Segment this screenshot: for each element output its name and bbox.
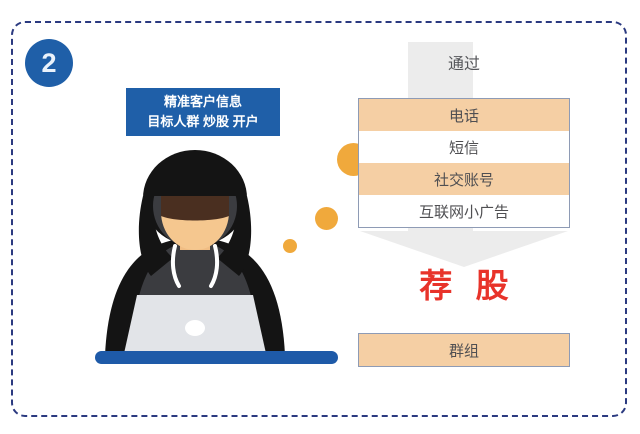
channel-label-social: 社交账号	[434, 169, 494, 190]
desk-bar	[95, 351, 338, 364]
coin-small-icon	[283, 239, 297, 253]
slide-canvas: 2 精准客户信息 目标人群 炒股 开户	[0, 0, 640, 434]
step-number-text: 2	[41, 50, 56, 77]
channel-row-sms[interactable]: 短信	[359, 131, 569, 163]
channel-table: 电话 短信 社交账号 互联网小广告	[358, 98, 570, 228]
caption-line-1: 精准客户信息	[164, 92, 242, 112]
coin-medium-icon	[315, 207, 338, 230]
result-group-box[interactable]: 群组	[358, 333, 570, 367]
caption-line-2: 目标人群 炒股 开户	[147, 112, 258, 132]
emphasis-text: 荐 股	[358, 268, 570, 304]
channel-row-online-ads[interactable]: 互联网小广告	[359, 195, 569, 227]
channel-label-phone: 电话	[449, 105, 479, 126]
result-group-label: 群组	[449, 340, 479, 361]
step-number-badge: 2	[25, 39, 73, 87]
channel-row-social[interactable]: 社交账号	[359, 163, 569, 195]
channel-row-phone[interactable]: 电话	[359, 99, 569, 131]
flow-header-label: 通过	[358, 57, 570, 73]
channel-label-sms: 短信	[449, 137, 479, 158]
hacker-illustration	[95, 150, 295, 365]
channel-label-online-ads: 互联网小广告	[419, 201, 509, 222]
caption-box: 精准客户信息 目标人群 炒股 开户	[126, 88, 280, 136]
